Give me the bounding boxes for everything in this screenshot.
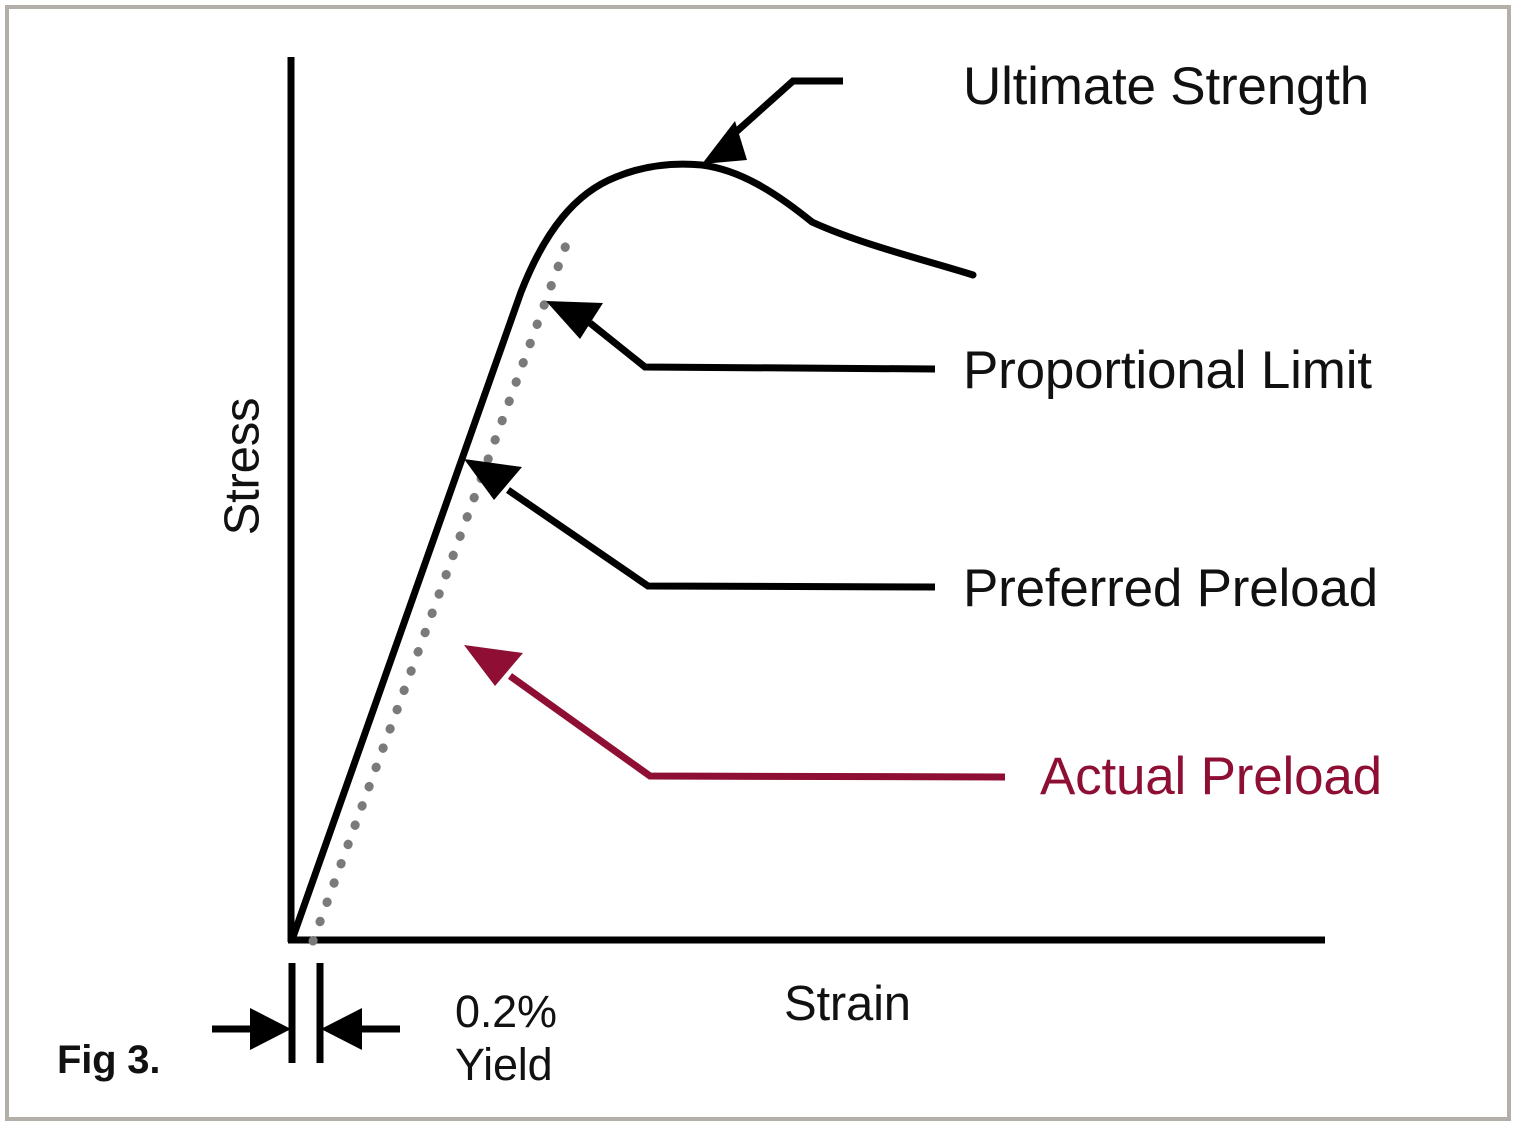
ultimate-strength-callout <box>702 81 843 164</box>
proportional-limit-leader-line <box>590 323 935 369</box>
preferred-preload-leader-line <box>508 490 935 587</box>
yield-word-text: Yield <box>455 1038 557 1091</box>
label-ultimate-strength: Ultimate Strength <box>963 60 1369 113</box>
actual-preload-callout <box>464 645 1005 777</box>
yield-dimension-label: 0.2% Yield <box>455 985 557 1091</box>
yield-dimension-callout <box>212 963 400 1063</box>
yield-dimension-arrowhead-right <box>321 1008 362 1050</box>
label-proportional-limit: Proportional Limit <box>963 344 1372 397</box>
x-axis-label: Strain <box>784 980 911 1029</box>
ultimate-strength-leader-line <box>727 81 843 140</box>
preferred-preload-callout <box>464 459 935 587</box>
offset-yield-dotted-line <box>313 234 570 941</box>
stress-strain-curve <box>293 164 973 937</box>
proportional-limit-arrowhead <box>546 301 603 339</box>
label-preferred-preload: Preferred Preload <box>963 562 1378 615</box>
figure-caption: Fig 3. <box>57 1040 160 1080</box>
figure-root: Ultimate Strength Proportional Limit Pre… <box>0 0 1520 1130</box>
y-axis-label: Stress <box>219 392 268 542</box>
yield-dimension-arrowhead-left <box>250 1008 291 1050</box>
proportional-limit-callout <box>546 301 935 369</box>
label-actual-preload: Actual Preload <box>1040 750 1382 803</box>
actual-preload-leader-line <box>510 676 1005 777</box>
yield-percent-text: 0.2% <box>455 985 557 1038</box>
